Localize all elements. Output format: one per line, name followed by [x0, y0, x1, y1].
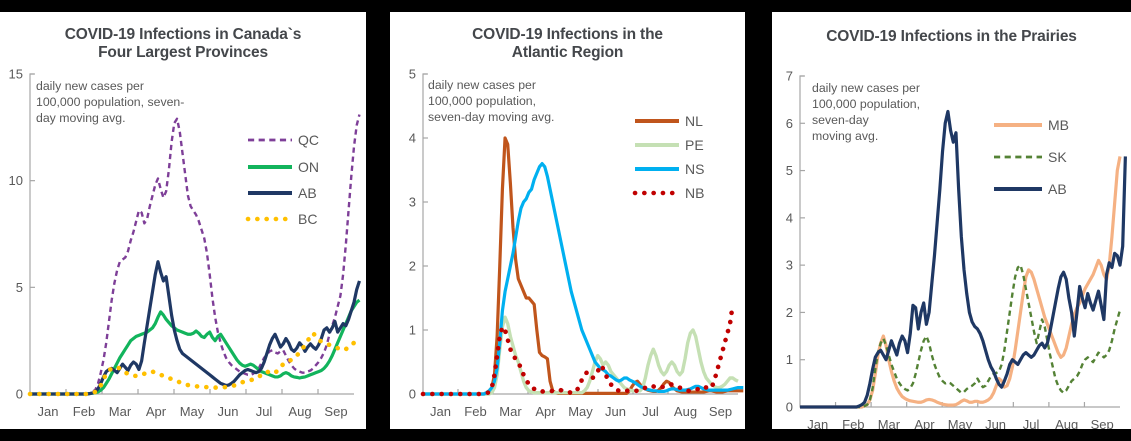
- x-tick-label: Mar: [499, 404, 522, 419]
- chart-svg-2: 01234567JanFebMarAprMayJunJulAugSepdaily…: [772, 12, 1131, 429]
- x-tick-label: May: [180, 404, 205, 419]
- legend-label-nl[interactable]: NL: [685, 113, 703, 129]
- y-tick-label: 5: [786, 163, 793, 178]
- series-line-bc: [30, 333, 354, 394]
- chart-subtitle-line: 100,000 population, seven-: [36, 95, 184, 109]
- y-tick-label: 5: [16, 280, 23, 295]
- y-tick-label: 10: [9, 173, 23, 188]
- x-tick-label: May: [948, 417, 973, 429]
- x-tick-label: Sep: [1091, 417, 1114, 429]
- legend-label-bc[interactable]: BC: [298, 211, 317, 227]
- x-tick-label: Aug: [1055, 417, 1078, 429]
- chart-svg-1: 012345JanFebMarAprMayJunJulAugSepdaily n…: [390, 12, 745, 429]
- legend-label-mb[interactable]: MB: [1048, 117, 1069, 133]
- x-tick-label: Jun: [985, 417, 1006, 429]
- x-tick-label: Feb: [464, 404, 486, 419]
- x-tick-label: Jul: [642, 404, 659, 419]
- series-line-on: [30, 300, 359, 394]
- x-tick-label: Feb: [73, 404, 95, 419]
- x-tick-label: Sep: [709, 404, 732, 419]
- series-line-sk: [800, 265, 1120, 407]
- chart-panel-atlantic-region: COVID-19 Infections in the Atlantic Regi…: [390, 12, 745, 429]
- legend-label-qc[interactable]: QC: [298, 132, 319, 148]
- y-tick-label: 3: [786, 258, 793, 273]
- y-tick-label: 0: [409, 387, 416, 402]
- chart-panel-prairies: COVID-19 Infections in the Prairies 0123…: [772, 12, 1131, 429]
- legend-label-pe[interactable]: PE: [685, 137, 704, 153]
- x-tick-label: Apr: [146, 404, 167, 419]
- y-tick-label: 15: [9, 67, 23, 82]
- series-line-qc: [30, 115, 359, 394]
- x-tick-label: Jan: [807, 417, 828, 429]
- y-tick-label: 6: [786, 116, 793, 131]
- chart-subtitle-line: seven-day: [812, 113, 870, 127]
- y-tick-label: 0: [786, 400, 793, 415]
- chart-svg-0: 051015JanFebMarAprMayJunJulAugSepdaily n…: [0, 12, 366, 429]
- legend-label-ns[interactable]: NS: [685, 161, 704, 177]
- chart-subtitle-line: moving avg.: [812, 129, 878, 143]
- chart-subtitle-line: 100,000 population,: [812, 97, 920, 111]
- chart-subtitle-line: daily new cases per: [36, 79, 144, 93]
- y-tick-label: 2: [409, 259, 416, 274]
- figure-root: COVID-19 Infections in Canada`s Four Lar…: [0, 0, 1131, 441]
- legend-label-ab[interactable]: AB: [298, 185, 317, 201]
- y-tick-label: 5: [409, 67, 416, 82]
- y-tick-label: 3: [409, 195, 416, 210]
- legend-label-on[interactable]: ON: [298, 159, 319, 175]
- x-tick-label: Jan: [430, 404, 451, 419]
- y-tick-label: 7: [786, 69, 793, 84]
- y-tick-label: 4: [409, 131, 416, 146]
- series-line-ab: [800, 111, 1125, 407]
- x-tick-label: Aug: [288, 404, 311, 419]
- x-tick-label: Jun: [218, 404, 239, 419]
- y-tick-label: 1: [409, 323, 416, 338]
- legend-label-ab[interactable]: AB: [1048, 181, 1067, 197]
- x-tick-label: Apr: [535, 404, 556, 419]
- x-tick-label: Aug: [674, 404, 697, 419]
- chart-panel-canada-four-largest-provinces: COVID-19 Infections in Canada`s Four Lar…: [0, 12, 366, 429]
- chart-subtitle-line: daily new cases per: [428, 78, 536, 92]
- y-tick-label: 2: [786, 305, 793, 320]
- chart-subtitle-line: day moving avg.: [36, 111, 126, 125]
- x-tick-label: Jul: [256, 404, 273, 419]
- x-tick-label: Jul: [1023, 417, 1040, 429]
- x-tick-label: Mar: [878, 417, 901, 429]
- chart-subtitle-line: daily new cases per: [812, 81, 920, 95]
- chart-subtitle-line: seven-day moving avg.: [428, 110, 554, 124]
- x-tick-label: May: [568, 404, 593, 419]
- legend-label-sk[interactable]: SK: [1048, 149, 1067, 165]
- y-tick-label: 4: [786, 210, 793, 225]
- x-tick-label: Apr: [914, 417, 935, 429]
- chart-subtitle-line: 100,000 population,: [428, 94, 536, 108]
- y-tick-label: 1: [786, 352, 793, 367]
- x-tick-label: Mar: [109, 404, 132, 419]
- x-tick-label: Jun: [605, 404, 626, 419]
- x-tick-label: Jan: [38, 404, 59, 419]
- legend-label-nb[interactable]: NB: [685, 185, 704, 201]
- y-tick-label: 0: [16, 387, 23, 402]
- x-tick-label: Sep: [324, 404, 347, 419]
- x-tick-label: Feb: [842, 417, 864, 429]
